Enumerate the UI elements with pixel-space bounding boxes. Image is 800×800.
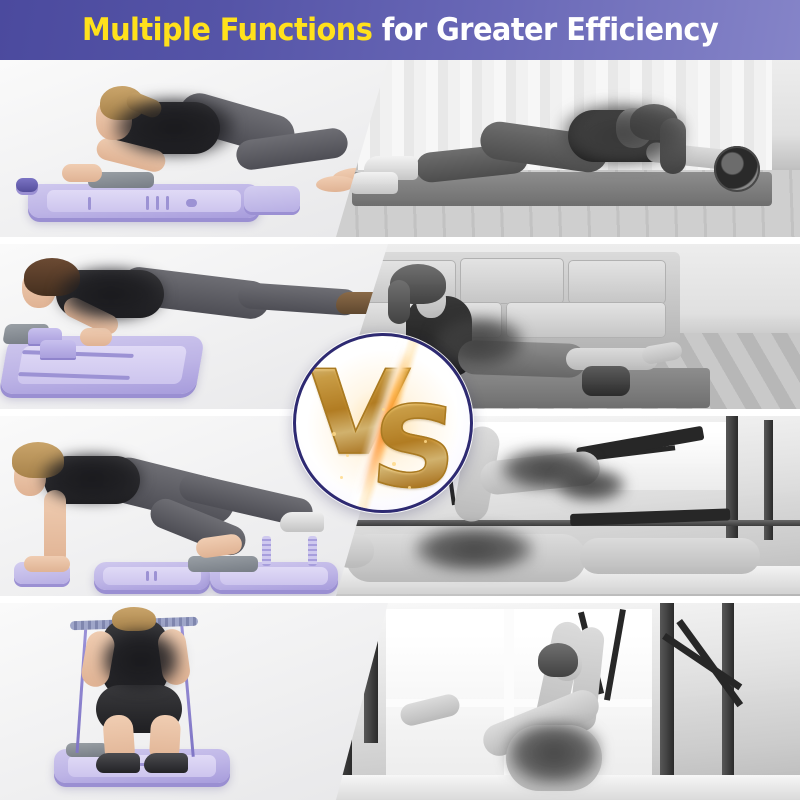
privacy-blur-patch: [100, 629, 182, 691]
knee-pad-gray: [188, 556, 258, 572]
equipment-post: [722, 603, 734, 800]
product-board-main: [28, 184, 260, 218]
reformer-rail: [330, 520, 800, 526]
banner-title-plain: for Greater Efficiency: [372, 12, 718, 48]
figure-hand: [24, 556, 70, 572]
foam-roller: [582, 366, 630, 396]
banner-title: Multiple Functions for Greater Efficienc…: [82, 15, 718, 46]
figure-hair: [538, 643, 578, 677]
header-banner: Multiple Functions for Greater Efficienc…: [0, 0, 800, 60]
equipment-post: [660, 603, 674, 800]
board-inner-surface: [103, 567, 200, 585]
figure-shoe: [280, 512, 324, 532]
figure-shoe: [348, 172, 398, 194]
sparkle-icon: [392, 462, 396, 466]
figure-hair: [112, 607, 156, 631]
privacy-blur-patch: [556, 468, 626, 502]
figure-legs-lying: [580, 538, 760, 574]
sparkle-icon: [340, 476, 343, 479]
figure-hand: [62, 164, 102, 182]
figure-shoe: [96, 753, 140, 773]
privacy-blur-patch: [40, 452, 144, 504]
board-groove: [146, 196, 149, 210]
board-groove: [156, 196, 159, 210]
board-end-cap: [16, 178, 38, 192]
panel-8-image: [330, 603, 800, 800]
pushup-handle: [40, 340, 76, 358]
privacy-blur-patch: [506, 721, 602, 785]
sparkle-icon: [332, 432, 336, 436]
privacy-blur-patch: [112, 96, 236, 158]
board-inner-surface: [68, 755, 216, 777]
privacy-blur-patch: [56, 266, 166, 322]
sofa-seat: [506, 302, 666, 338]
privacy-blur-patch: [560, 102, 686, 166]
privacy-blur-patch: [414, 526, 534, 572]
ab-roller-wheel: [714, 146, 760, 192]
sparkle-icon: [382, 408, 385, 411]
panel-2-image: [330, 60, 800, 237]
sofa-cushion: [460, 258, 564, 304]
panel-8-woman-pilates-trapeze-window: [330, 603, 800, 800]
figure-hand: [80, 328, 112, 346]
board-dial: [186, 199, 197, 207]
row-divider: [0, 237, 800, 244]
board-groove: [146, 571, 149, 581]
reformer-post: [726, 416, 738, 546]
product-knee-pad: [244, 186, 300, 212]
row-divider: [0, 596, 800, 603]
adjustment-peg: [262, 536, 271, 566]
sparkle-icon: [346, 454, 349, 457]
sparkle-icon: [408, 486, 411, 489]
board-groove: [154, 571, 157, 581]
figure-shoe: [144, 753, 188, 773]
collage-row-4: [0, 603, 800, 800]
sparkle-icon: [424, 440, 427, 443]
board-groove: [166, 196, 169, 210]
board-inner-surface: [47, 190, 242, 212]
adjustment-peg: [308, 536, 317, 566]
board-groove: [88, 197, 91, 210]
product-feature-poster: Multiple Functions for Greater Efficienc…: [0, 0, 800, 800]
vs-badge: V S: [293, 333, 473, 513]
sofa-cushion: [568, 260, 666, 304]
banner-title-highlight: Multiple Functions: [82, 12, 372, 48]
figure-ponytail: [388, 280, 410, 324]
panel-2-woman-ab-roller-wheel: [330, 60, 800, 237]
collage-row-1: [0, 60, 800, 237]
